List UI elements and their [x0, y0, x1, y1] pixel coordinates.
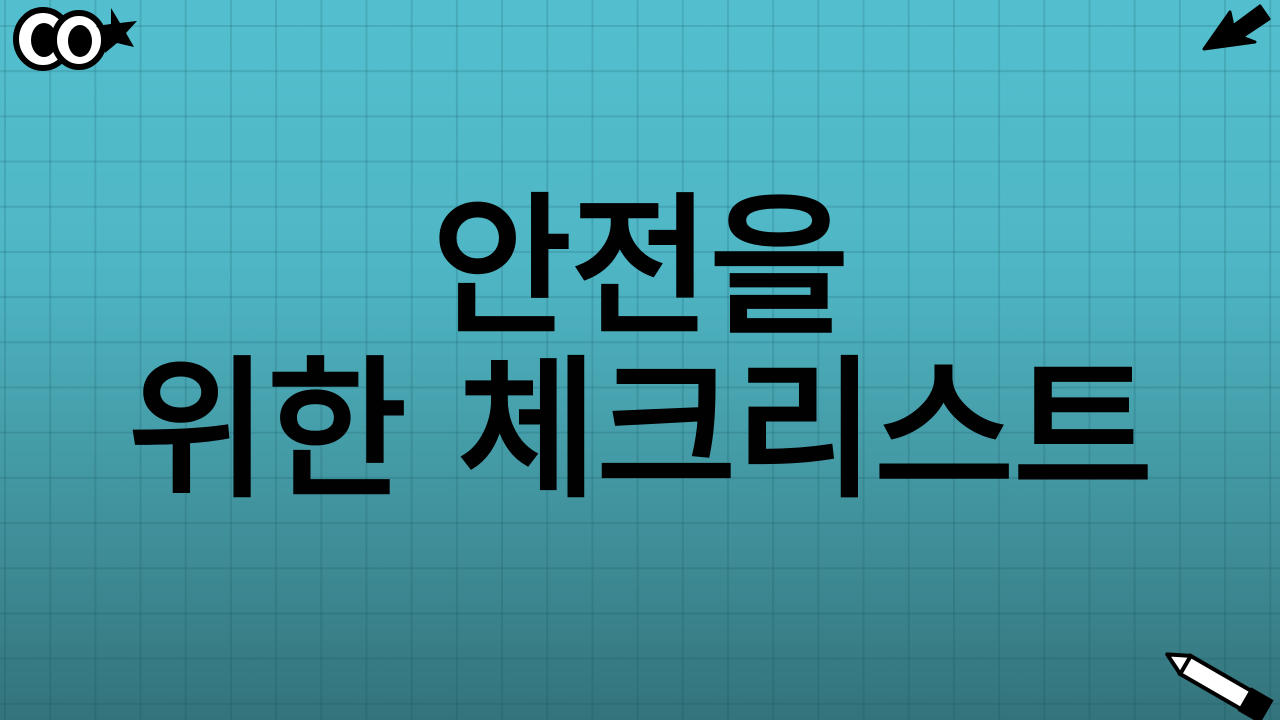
- googly-eyes-logo-icon: [8, 2, 138, 74]
- slide-title: 안전을 위한 체크리스트: [0, 186, 1280, 512]
- slide-canvas: 안전을 위한 체크리스트: [0, 0, 1280, 720]
- pencil-icon: [1152, 640, 1280, 720]
- arrow-cursor-icon: [1200, 2, 1272, 58]
